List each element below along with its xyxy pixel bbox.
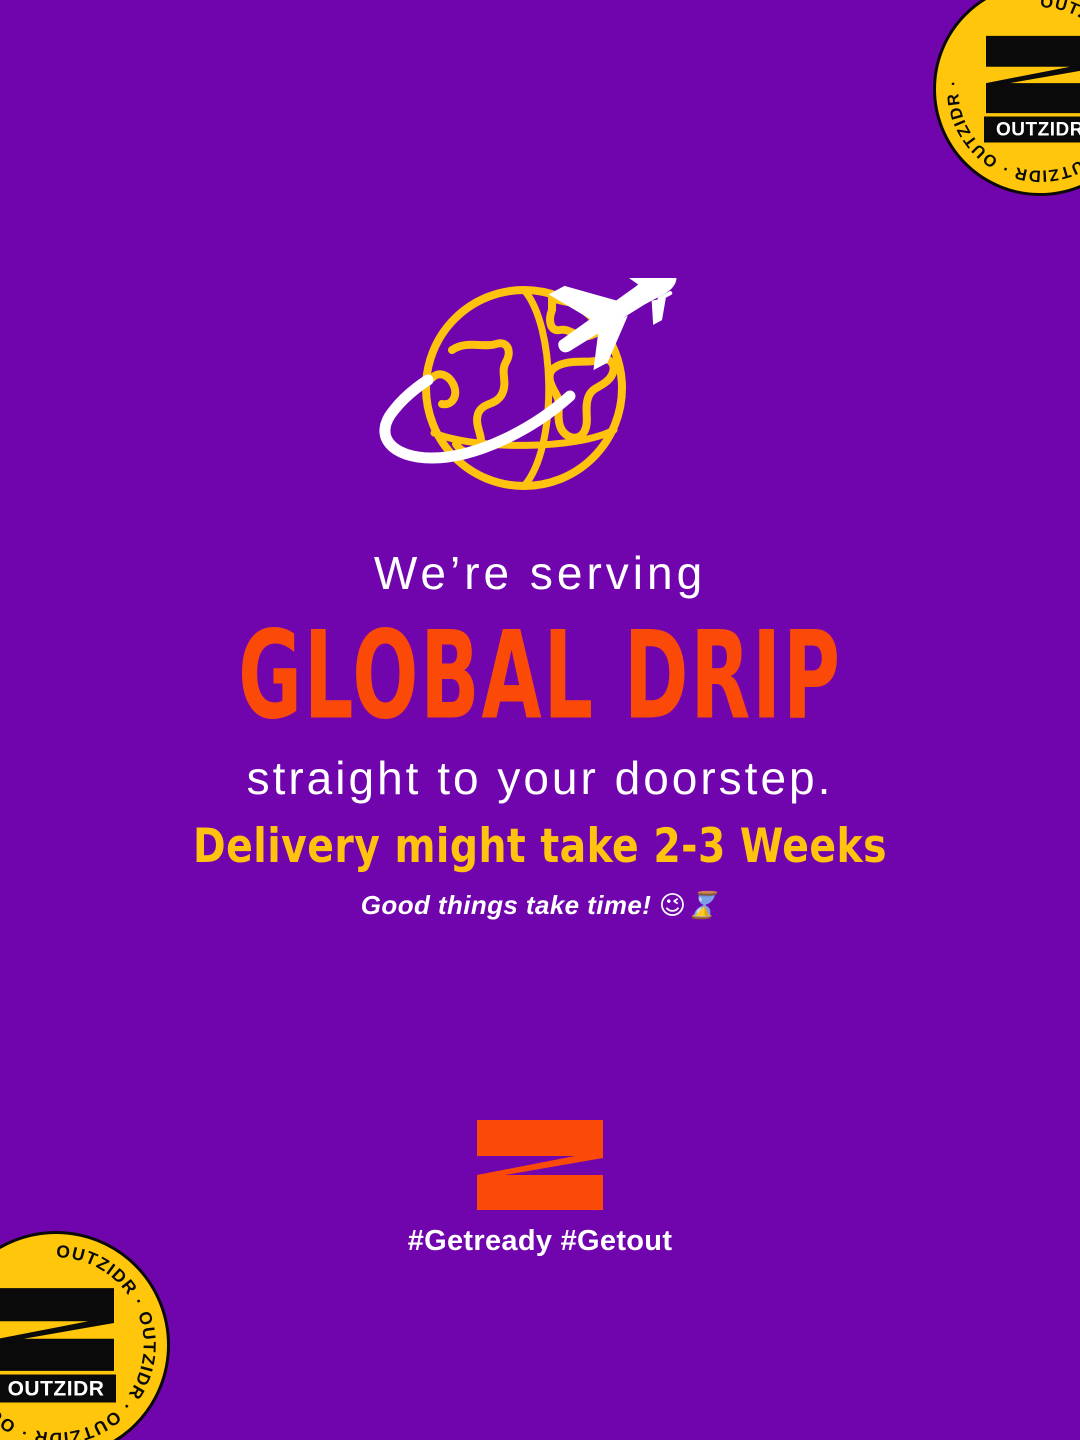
eyebrow-text: We’re serving	[0, 548, 1080, 599]
delivery-reassurance: Good things take time! 😉⌛	[0, 890, 1080, 921]
page-title: GLOBAL DRIP	[32, 613, 1047, 741]
subline-text: straight to your doorstep.	[0, 753, 1080, 804]
delivery-notice-block: Delivery might take 2-3 Weeks Good thing…	[0, 820, 1080, 921]
badge-core-bottom-left: OUTZIDR	[0, 1288, 116, 1403]
badge-core-top-right: OUTZIDR	[984, 36, 1080, 143]
globe-airplane-icon	[356, 278, 716, 510]
headline-block: We’re serving GLOBAL DRIP straight to yo…	[0, 548, 1080, 804]
outzidr-z-logo	[477, 1120, 603, 1215]
badge-center-wordmark: OUTZIDR	[984, 117, 1080, 143]
outzidr-sticker-top-right: OUTZIDR · OUTZIDR · OUTZIDR · OUTZIDR · …	[933, 0, 1080, 196]
badge-center-wordmark: OUTZIDR	[0, 1375, 116, 1403]
outzidr-z-logo	[0, 1288, 114, 1372]
outzidr-sticker-bottom-left: OUTZIDR · OUTZIDR · OUTZIDR · OUTZIDR · …	[0, 1231, 170, 1440]
delivery-notice: Delivery might take 2-3 Weeks	[38, 820, 1042, 874]
promo-poster: We’re serving GLOBAL DRIP straight to yo…	[0, 0, 1080, 1440]
outzidr-z-logo	[986, 36, 1080, 114]
